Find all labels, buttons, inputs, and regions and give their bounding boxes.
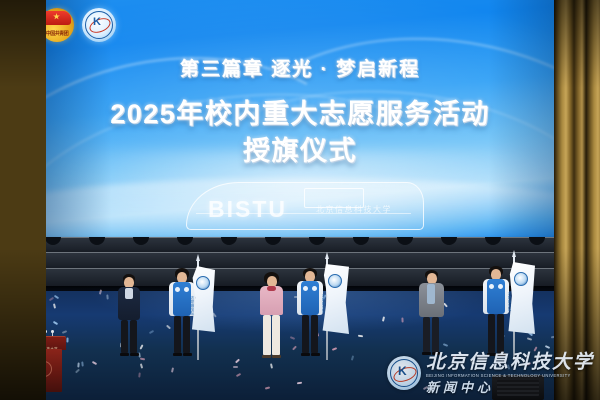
flag-emblem-1 [196, 276, 210, 290]
confetti-piece [75, 369, 80, 374]
confetti-piece [350, 355, 353, 360]
photo-stage-scene: 中国共青团 K 第三篇章 逐光 · 梦启新程 2025年校内重大志愿服务活动 授… [0, 0, 600, 400]
confetti-piece [138, 372, 141, 377]
riser-stand-cap [309, 237, 325, 245]
led-screen: 中国共青团 K 第三篇章 逐光 · 梦启新程 2025年校内重大志愿服务活动 授… [38, 0, 562, 240]
bistu-train-graphic: BISTU 北京信息科技大学 [186, 176, 422, 232]
riser-stand-row [35, 237, 565, 247]
flag-text-2: 志愿服务队 [322, 294, 327, 314]
riser-stand-cap [397, 237, 413, 245]
person-official-grey-blazer [418, 270, 445, 362]
person-official-dark-suit [116, 274, 142, 362]
confetti-piece [81, 362, 84, 367]
confetti-piece [66, 337, 68, 342]
chapter-subtitle: 第三篇章 逐光 · 梦启新程 [38, 54, 562, 81]
confetti-piece [235, 373, 240, 377]
confetti-piece [270, 363, 273, 368]
flag-emblem-2 [328, 274, 342, 288]
confetti-piece [297, 381, 302, 384]
confetti-piece [170, 367, 173, 372]
person-official-pink [258, 272, 285, 362]
uni-emblem-glyph: K [93, 17, 101, 28]
confetti-piece [233, 366, 238, 368]
flag-emblem-3 [514, 272, 528, 286]
confetti-piece [77, 362, 79, 367]
curtain-left-shading [0, 0, 46, 400]
bistu-university-emblem: K [82, 8, 116, 42]
news-center-watermark: K 北京信息科技大学 BEIJING INFORMATION SCIENCE &… [387, 353, 594, 394]
screen-emblem-group: 中国共青团 K [40, 8, 116, 42]
flag-text-3: 志愿服务队 [508, 292, 513, 312]
bistu-wordmark: BISTU [208, 196, 287, 223]
confetti-piece [140, 363, 143, 368]
event-title-line-2: 授旗仪式 [38, 133, 562, 170]
confetti-piece [235, 358, 240, 363]
event-title-line-1: 2025年校内重大志愿服务活动 [38, 96, 562, 133]
riser-stand-cap [45, 237, 61, 245]
watermark-university-seal: K [387, 356, 421, 390]
riser-stand-cap [441, 237, 457, 245]
person-flag-bearer-3 [482, 266, 510, 362]
event-title: 2025年校内重大志愿服务活动 授旗仪式 [38, 96, 562, 170]
confetti-piece [106, 294, 108, 299]
person-flag-bearer-2 [296, 268, 324, 362]
watermark-department: 新闻中心 [426, 381, 594, 394]
riser-stand-cap [529, 237, 545, 245]
confetti-piece [92, 361, 97, 365]
riser-stand-cap [133, 237, 149, 245]
curtain-right-shading [554, 0, 600, 400]
watermark-university-name-en: BEIJING INFORMATION SCIENCE & TECHNOLOGY… [426, 374, 594, 378]
bistu-chinese-name: 北京信息科技大学 [316, 204, 392, 215]
riser-stand-cap [353, 237, 369, 245]
watermark-text-block: 北京信息科技大学 BEIJING INFORMATION SCIENCE & T… [426, 353, 594, 394]
confetti-piece [358, 335, 363, 338]
riser-stand-cap [265, 237, 281, 245]
watermark-university-name: 北京信息科技大学 [426, 353, 594, 372]
flag-text-1: 志愿服务队 [191, 296, 196, 316]
watermark-seal-glyph: K [398, 365, 407, 377]
riser-stand-cap [177, 237, 193, 245]
riser-stand-cap [221, 237, 237, 245]
riser-stand-cap [485, 237, 501, 245]
riser-stand-cap [89, 237, 105, 245]
confetti-piece [265, 386, 270, 389]
